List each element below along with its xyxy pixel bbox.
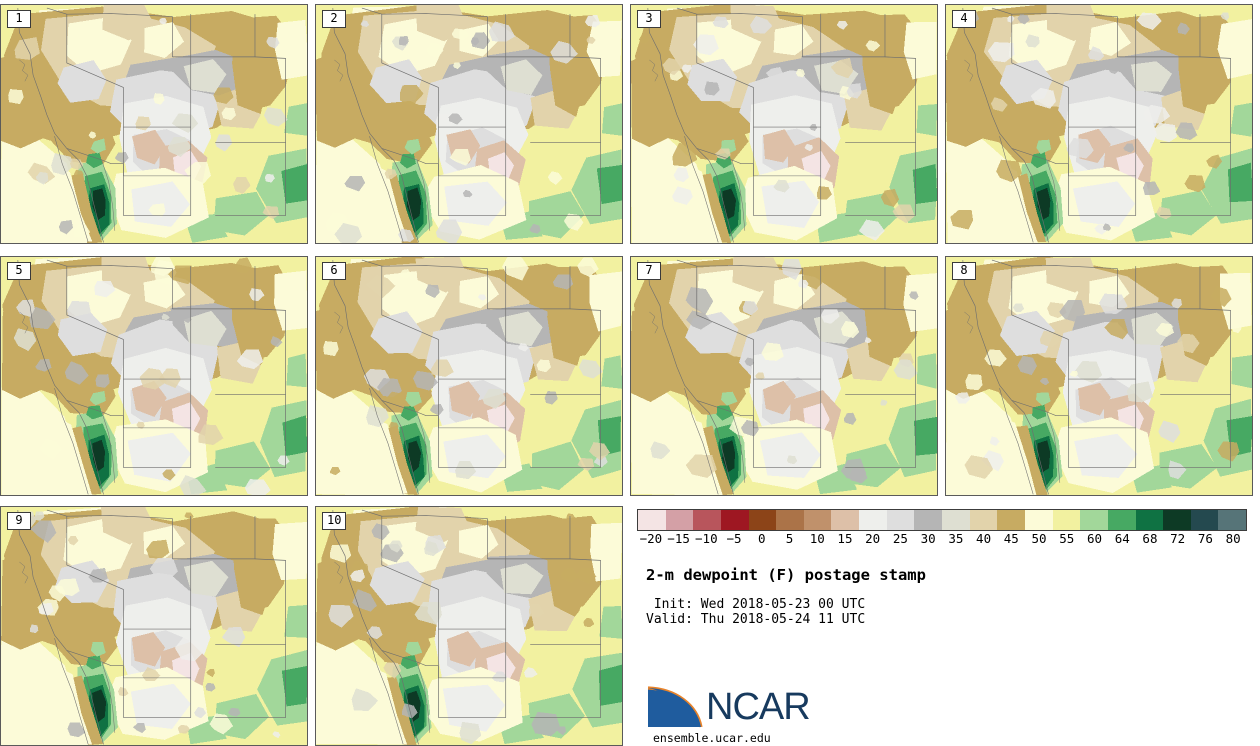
colorbar-tick-label: 45	[1004, 532, 1019, 546]
colorbar-tick-label: 15	[837, 532, 852, 546]
colorbar-segment	[721, 510, 749, 530]
panel-number-label: 8	[952, 262, 976, 280]
postage-stamp-panel-grid: 12345678910	[0, 0, 1260, 746]
panel-number-label: 4	[952, 10, 976, 28]
colorbar-segment	[776, 510, 804, 530]
colorbar-tick-label: 80	[1226, 532, 1241, 546]
colorbar-tick-label: 50	[1032, 532, 1047, 546]
colorbar-tick-label: 35	[948, 532, 963, 546]
figure-caption: 2-m dewpoint (F) postage stamp Init: Wed…	[646, 565, 1246, 627]
colorbar-segment	[997, 510, 1025, 530]
colorbar-segment	[1136, 510, 1164, 530]
colorbar-segment	[1163, 510, 1191, 530]
colorbar-tick-label: 55	[1059, 532, 1074, 546]
colorbar-tick-label: 0	[758, 532, 766, 546]
colorbar-tick-label: 76	[1198, 532, 1213, 546]
colorbar-segment	[1218, 510, 1246, 530]
colorbar-tick-labels: −20−15−10−505101520253035404550556064687…	[637, 532, 1247, 548]
colorbar-segment	[666, 510, 694, 530]
colorbar-segment	[804, 510, 832, 530]
map-panel-2[interactable]: 2	[315, 4, 623, 244]
colorbar-segment	[1191, 510, 1219, 530]
colorbar: −20−15−10−505101520253035404550556064687…	[637, 509, 1247, 548]
panel-number-label: 5	[7, 262, 31, 280]
colorbar-tick-label: 64	[1115, 532, 1130, 546]
map-panel-9[interactable]: 9	[0, 506, 308, 746]
map-panel-4[interactable]: 4	[945, 4, 1253, 244]
colorbar-tick-label: 5	[786, 532, 794, 546]
colorbar-tick-label: 40	[976, 532, 991, 546]
map-panel-5[interactable]: 5	[0, 256, 308, 496]
colorbar-segment	[1108, 510, 1136, 530]
colorbar-tick-label: 25	[893, 532, 908, 546]
panel-number-label: 3	[637, 10, 661, 28]
colorbar-tick-label: 30	[921, 532, 936, 546]
panel-number-label: 10	[322, 512, 346, 530]
colorbar-segment	[1025, 510, 1053, 530]
map-panel-7[interactable]: 7	[630, 256, 938, 496]
colorbar-segment	[1053, 510, 1081, 530]
map-panel-8[interactable]: 8	[945, 256, 1253, 496]
colorbar-segment	[749, 510, 777, 530]
colorbar-tick-label: 10	[810, 532, 825, 546]
ncar-swoosh-icon	[646, 684, 704, 730]
ncar-wordmark: NCAR	[706, 686, 810, 728]
colorbar-segment	[970, 510, 998, 530]
colorbar-tick-label: −5	[727, 532, 742, 546]
init-time-line: Init: Wed 2018-05-23 00 UTC	[646, 597, 1246, 612]
colorbar-tick-label: −20	[640, 532, 663, 546]
ncar-url: ensemble.ucar.edu	[653, 732, 771, 745]
panel-number-label: 1	[7, 10, 31, 28]
colorbar-tick-label: 20	[865, 532, 880, 546]
panel-number-label: 2	[322, 10, 346, 28]
colorbar-segment	[942, 510, 970, 530]
colorbar-segment	[831, 510, 859, 530]
map-panel-10[interactable]: 10	[315, 506, 623, 746]
valid-time-line: Valid: Thu 2018-05-24 11 UTC	[646, 612, 1246, 627]
colorbar-segment	[693, 510, 721, 530]
colorbar-segment	[1080, 510, 1108, 530]
map-panel-1[interactable]: 1	[0, 4, 308, 244]
colorbar-segment	[887, 510, 915, 530]
colorbar-strip	[637, 509, 1247, 531]
colorbar-segment	[914, 510, 942, 530]
colorbar-segment	[859, 510, 887, 530]
panel-number-label: 9	[7, 512, 31, 530]
colorbar-tick-label: −10	[695, 532, 718, 546]
colorbar-tick-label: 68	[1142, 532, 1157, 546]
map-panel-6[interactable]: 6	[315, 256, 623, 496]
figure-title: 2-m dewpoint (F) postage stamp	[646, 565, 1246, 585]
colorbar-tick-label: 60	[1087, 532, 1102, 546]
map-panel-3[interactable]: 3	[630, 4, 938, 244]
colorbar-segment	[638, 510, 666, 530]
panel-number-label: 7	[637, 262, 661, 280]
colorbar-tick-label: 72	[1170, 532, 1185, 546]
colorbar-tick-label: −15	[667, 532, 690, 546]
panel-number-label: 6	[322, 262, 346, 280]
ncar-logo: NCAR ensemble.ucar.edu	[646, 684, 906, 740]
